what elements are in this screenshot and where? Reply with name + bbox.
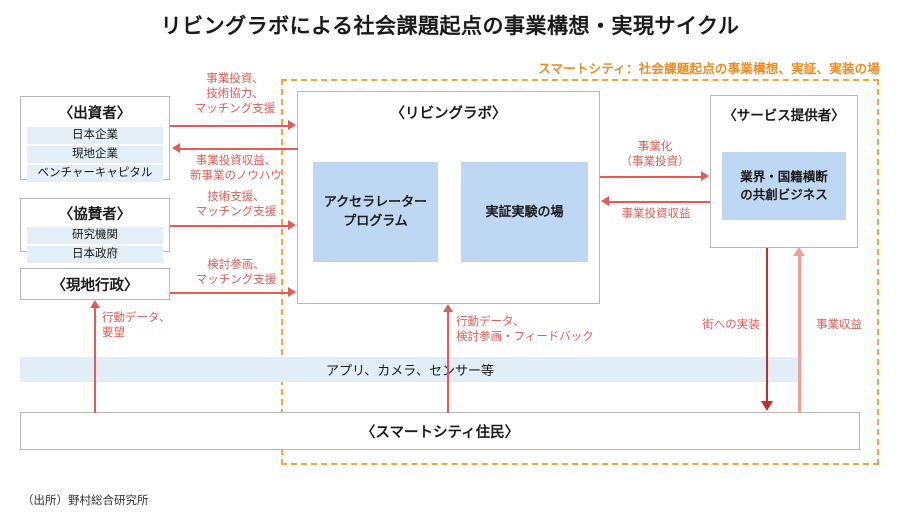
investor-to-lab-arrowhead — [288, 120, 296, 130]
residents-to-lab-label: 行動データ、 検討参画・フィードバック — [456, 315, 616, 345]
smart-city-zone-label: スマートシティ：社会課題起点の事業構想、実証、実装の場 — [470, 58, 880, 77]
supporter-to-lab-line2: マッチング支援 — [178, 205, 294, 220]
localgov-to-lab-arrowhead — [288, 287, 296, 297]
lab-to-provider-arrow-line — [600, 176, 701, 178]
infrastructure-band-label: アプリ、カメラ、センサー等 — [326, 360, 494, 379]
residents-to-lab-arrow-line — [447, 312, 449, 413]
city-to-provider-arrow-line — [798, 256, 801, 413]
provider-to-city-arrow-line — [766, 248, 768, 403]
investor-title: 〈出資者〉 — [27, 102, 163, 123]
demonstration-field-box[interactable]: 実証実験の場 — [461, 162, 588, 262]
city-to-provider-arrowhead — [793, 247, 805, 256]
demonstration-field-label: 実証実験の場 — [485, 203, 563, 222]
investor-item-1: 現地企業 — [27, 146, 163, 163]
investor-box[interactable]: 〈出資者〉 日本企業 現地企業 ベンチャーキャピタル — [20, 96, 170, 180]
investor-to-lab-label: 事業投資、 技術協力、 マッチング支援 — [175, 72, 295, 117]
localgov-to-lab-arrow-line — [170, 292, 288, 294]
supporter-to-lab-arrow-line — [170, 225, 288, 227]
accelerator-program-box[interactable]: アクセラレーター プログラム — [313, 162, 438, 262]
supporter-to-lab-label: 技術支援、 マッチング支援 — [178, 190, 294, 220]
provider-to-city-line1: 街への実装 — [700, 318, 762, 333]
cocreation-business-label-line1: 業界・国籍横断 — [740, 168, 828, 186]
lab-to-investor-line1: 事業投資収益、 — [174, 154, 298, 169]
provider-to-lab-label: 事業投資収益 — [600, 207, 712, 222]
diagram-canvas: リビングラボによる社会課題起点の事業構想・実現サイクル スマートシティ：社会課題… — [0, 0, 900, 529]
lab-to-investor-arrowhead — [172, 143, 180, 153]
investor-item-0: 日本企業 — [27, 127, 163, 144]
residents-box[interactable]: 〈スマートシティ住民〉 — [20, 412, 860, 450]
source-note: （出所）野村総合研究所 — [22, 492, 149, 508]
provider-to-lab-arrow-line — [609, 201, 710, 203]
residents-to-lab-line2: 検討参画・フィードバック — [456, 330, 616, 345]
lab-to-investor-line2: 新事業のノウハウ — [174, 169, 298, 184]
lab-to-provider-line2: （事業投資） — [600, 155, 710, 170]
investor-to-lab-line2: 技術協力、 — [175, 87, 295, 102]
lab-to-provider-arrowhead — [701, 171, 709, 181]
residents-to-localgov-line2: 要望 — [102, 326, 222, 341]
infrastructure-band: アプリ、カメラ、センサー等 — [20, 357, 800, 382]
local-government-title: 〈現地行政〉 — [52, 274, 139, 295]
supporter-title: 〈協賛者〉 — [27, 203, 163, 224]
localgov-to-lab-line2: マッチング支援 — [178, 273, 294, 288]
provider-to-city-label: 街への実装 — [700, 318, 762, 333]
supporter-to-lab-arrowhead — [288, 220, 296, 230]
lab-to-provider-line1: 事業化 — [600, 140, 710, 155]
localgov-to-lab-label: 検討参画、 マッチング支援 — [178, 258, 294, 288]
investor-item-2: ベンチャーキャピタル — [27, 165, 163, 182]
supporter-item-1: 日本政府 — [27, 246, 163, 263]
investor-to-lab-arrow-line — [170, 125, 288, 127]
residents-to-lab-arrowhead — [443, 304, 453, 312]
residents-to-lab-line1: 行動データ、 — [456, 315, 616, 330]
investor-to-lab-line1: 事業投資、 — [175, 72, 295, 87]
service-provider-title: 〈サービス提供者〉 — [711, 104, 857, 124]
residents-to-localgov-line1: 行動データ、 — [102, 311, 222, 326]
lab-to-provider-label: 事業化 （事業投資） — [600, 140, 710, 170]
residents-title: 〈スマートシティ住民〉 — [361, 421, 519, 442]
local-government-box[interactable]: 〈現地行政〉 — [20, 268, 170, 300]
supporter-to-lab-line1: 技術支援、 — [178, 190, 294, 205]
localgov-to-lab-line1: 検討参画、 — [178, 258, 294, 273]
city-to-provider-line1: 事業収益 — [808, 318, 870, 333]
cocreation-business-box[interactable]: 業界・国籍横断 の共創ビジネス — [722, 152, 846, 220]
living-lab-title: 〈リビングラボ〉 — [298, 102, 599, 123]
city-to-provider-label: 事業収益 — [808, 318, 870, 333]
accelerator-program-label-line1: アクセラレーター — [324, 193, 427, 212]
provider-to-lab-line1: 事業投資収益 — [600, 207, 712, 222]
residents-to-localgov-label: 行動データ、 要望 — [102, 311, 222, 341]
page-title: リビングラボによる社会課題起点の事業構想・実現サイクル — [0, 10, 900, 40]
provider-to-city-arrowhead — [761, 401, 773, 411]
provider-to-lab-arrowhead — [601, 196, 609, 206]
supporter-item-0: 研究機関 — [27, 227, 163, 244]
residents-to-localgov-arrow-line — [94, 308, 96, 413]
lab-to-investor-arrow-line — [180, 148, 298, 150]
residents-to-localgov-arrowhead — [90, 300, 100, 308]
accelerator-program-label-line2: プログラム — [343, 212, 408, 231]
investor-to-lab-line3: マッチング支援 — [175, 102, 295, 117]
cocreation-business-label-line2: の共創ビジネス — [740, 186, 828, 204]
supporter-box[interactable]: 〈協賛者〉 研究機関 日本政府 — [20, 198, 170, 252]
lab-to-investor-label: 事業投資収益、 新事業のノウハウ — [174, 154, 298, 184]
